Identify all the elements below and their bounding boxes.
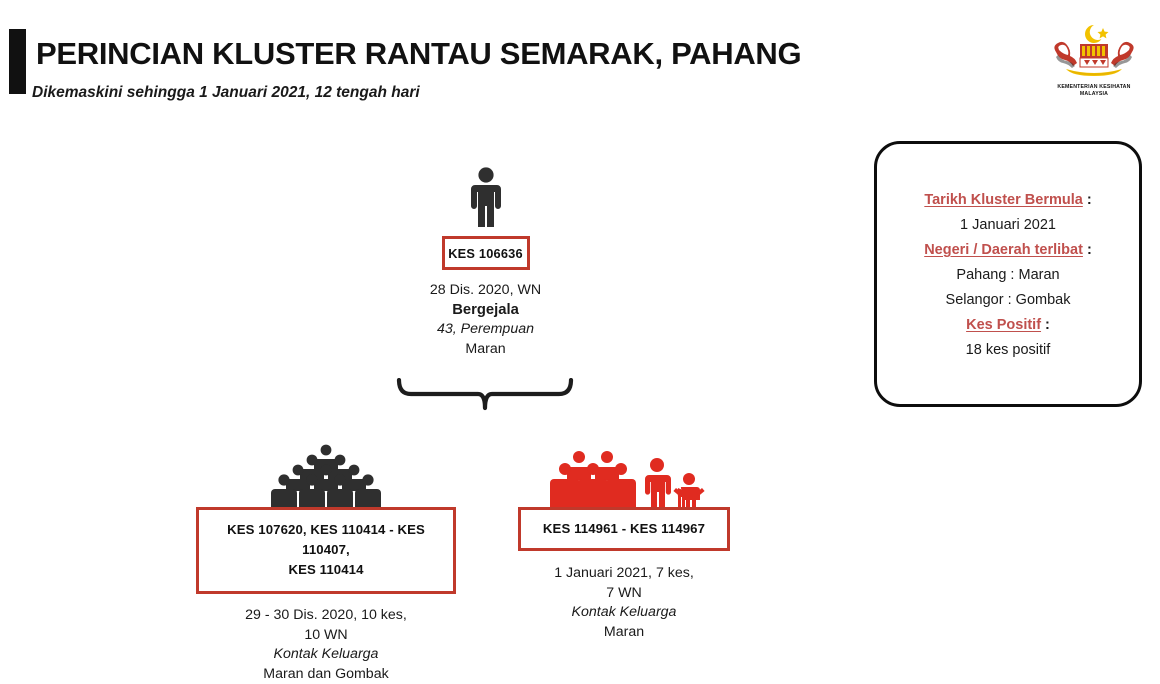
node-count-line: 10 WN xyxy=(150,626,502,646)
header-accent-bar xyxy=(9,29,26,94)
case-id-box: KES 114961 - KES 114967 xyxy=(518,507,730,551)
cluster-node-contacts-red: KES 114961 - KES 114967 1 Januari 2021, … xyxy=(500,443,748,642)
info-label-text: Negeri / Daerah terlibat xyxy=(924,242,1083,258)
node-date-line: 1 Januari 2021, 7 kes, xyxy=(500,564,748,584)
node-location: Maran xyxy=(500,623,748,643)
slide-canvas: PERINCIAN KLUSTER RANTAU SEMARAK, PAHANG… xyxy=(0,0,1160,665)
info-value-selangor: Selangor : Gombak xyxy=(877,288,1139,313)
case-id-line1: KES 107620, KES 110414 - KES 110407, xyxy=(227,522,425,557)
info-value-tarikh-kluster-bermula: 1 Januari 2021 xyxy=(877,213,1139,238)
ministry-of-health-logo: KEMENTERIAN KESIHATAN MALAYSIA xyxy=(1046,22,1142,108)
info-value-kes-positif: 18 kes positif xyxy=(877,338,1139,363)
family-group-icon xyxy=(500,443,748,507)
cluster-node-contacts-dark: KES 107620, KES 110414 - KES 110407, KES… xyxy=(150,443,502,684)
node-caption: 29 - 30 Dis. 2020, 10 kes, 10 WN Kontak … xyxy=(150,606,502,684)
page-subtitle: Dikemaskini sehingga 1 Januari 2021, 12 … xyxy=(32,84,420,102)
info-value-pahang: Pahang : Maran xyxy=(877,263,1139,288)
node-relation: Kontak Keluarga xyxy=(150,645,502,665)
case-id-box: KES 107620, KES 110414 - KES 110407, KES… xyxy=(196,507,456,594)
node-demographics: 43, Perempuan xyxy=(333,320,638,340)
info-label-colon: : xyxy=(1041,317,1050,333)
logo-caption: KEMENTERIAN KESIHATAN MALAYSIA xyxy=(1046,84,1142,98)
logo-caption-line1: KEMENTERIAN KESIHATAN xyxy=(1046,84,1142,91)
info-label-negeri-daerah: Negeri / Daerah terlibat : xyxy=(877,238,1139,263)
info-label-text: Tarikh Kluster Bermula xyxy=(924,192,1082,208)
case-id-box: KES 106636 xyxy=(442,236,530,270)
logo-caption-line2: MALAYSIA xyxy=(1046,91,1142,98)
node-location: Maran dan Gombak xyxy=(150,665,502,684)
info-label-kes-positif: Kes Positif : xyxy=(877,313,1139,338)
node-status: Bergejala xyxy=(333,301,638,321)
node-caption: 28 Dis. 2020, WN Bergejala 43, Perempuan… xyxy=(333,281,638,359)
cluster-info-panel: Tarikh Kluster Bermula : 1 Januari 2021 … xyxy=(874,141,1142,407)
cluster-node-index-case: KES 106636 28 Dis. 2020, WN Bergejala 43… xyxy=(333,166,638,359)
node-caption: 1 Januari 2021, 7 kes, 7 WN Kontak Kelua… xyxy=(500,564,748,642)
brace-connector-icon xyxy=(395,378,575,428)
info-label-text: Kes Positif xyxy=(966,317,1041,333)
node-date-line: 28 Dis. 2020, WN xyxy=(333,281,638,301)
node-count-line: 7 WN xyxy=(500,584,748,604)
info-label-colon: : xyxy=(1083,242,1092,258)
case-id-line2: KES 110414 xyxy=(288,562,363,577)
person-icon xyxy=(333,166,638,228)
info-label-colon: : xyxy=(1083,192,1092,208)
crowd-icon xyxy=(150,443,502,507)
node-relation: Kontak Keluarga xyxy=(500,603,748,623)
node-location: Maran xyxy=(333,340,638,360)
page-title: PERINCIAN KLUSTER RANTAU SEMARAK, PAHANG xyxy=(36,36,801,72)
info-label-tarikh-kluster-bermula: Tarikh Kluster Bermula : xyxy=(877,188,1139,213)
node-date-line: 29 - 30 Dis. 2020, 10 kes, xyxy=(150,606,502,626)
